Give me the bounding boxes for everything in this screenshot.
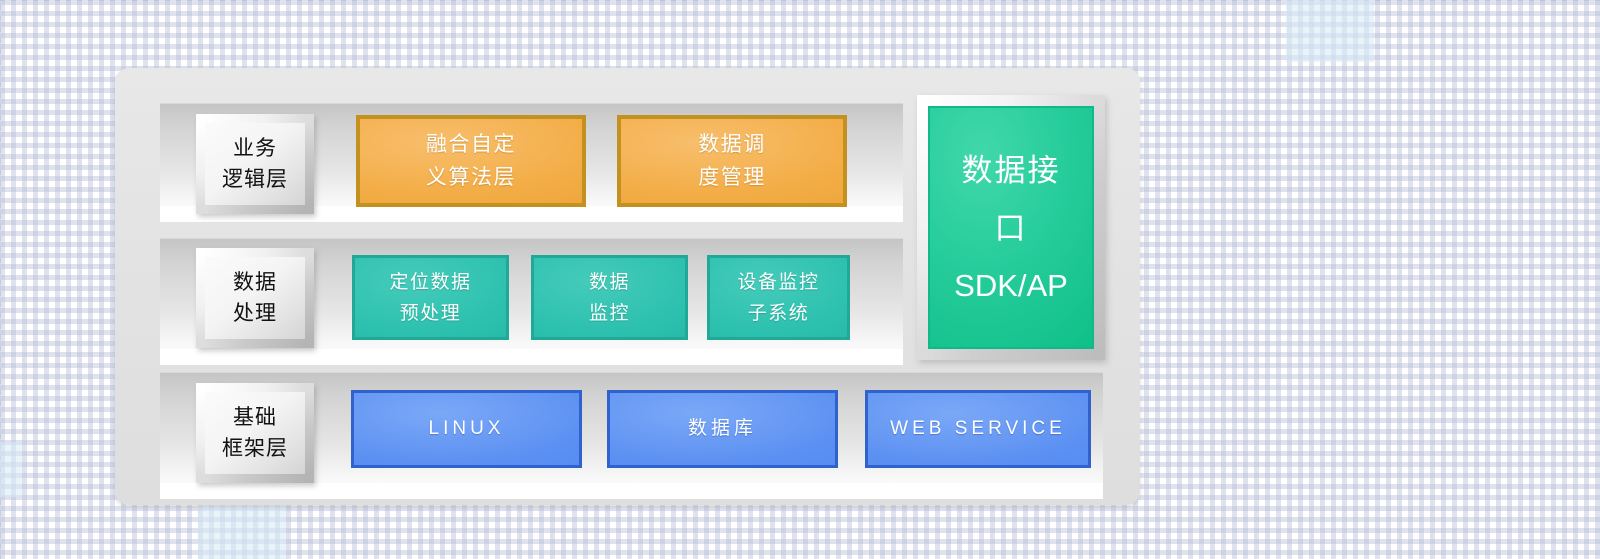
layer-label-business[interactable]: 业务 逻辑层 <box>196 114 314 214</box>
band-inner-shelf <box>160 483 1103 499</box>
module-label-line1: 数据库 <box>688 414 757 444</box>
layer-label-data-processing[interactable]: 数据 处理 <box>196 248 314 348</box>
module-database[interactable]: 数据库 <box>607 390 838 468</box>
module-label-line2: 监控 <box>589 298 630 329</box>
module-label-line2: 度管理 <box>698 161 766 194</box>
layer-label-line2: 逻辑层 <box>222 164 288 195</box>
band-inner-shelf <box>160 349 903 365</box>
diagram-canvas: 业务 逻辑层 数据 处理 基础 框架层 融合自定 义算法层 数据调 度管理 定位… <box>0 0 1600 559</box>
interface-label-line2: 口 <box>995 200 1028 258</box>
module-device-monitoring-subsystem[interactable]: 设备监控 子系统 <box>707 255 850 340</box>
module-label-line2: 子系统 <box>748 298 810 329</box>
interface-label-sdk: SDK/AP <box>954 258 1068 314</box>
module-label-line2: 义算法层 <box>426 161 516 194</box>
module-data-scheduling-management[interactable]: 数据调 度管理 <box>617 115 847 207</box>
layer-label-line1: 数据 <box>233 267 277 298</box>
module-label-line1: LINUX <box>429 414 505 444</box>
layer-label-line2: 框架层 <box>222 433 288 464</box>
layer-label-line1: 业务 <box>233 133 277 164</box>
module-label-line1: WEB SERVICE <box>890 414 1066 444</box>
module-label-line1: 融合自定 <box>426 128 516 161</box>
module-data-monitoring[interactable]: 数据 监控 <box>531 255 688 340</box>
layer-label-base-framework[interactable]: 基础 框架层 <box>196 383 314 483</box>
layer-label-line2: 处理 <box>233 298 277 329</box>
module-linux[interactable]: LINUX <box>351 390 582 468</box>
data-interface-frame: 数据接 口 SDK/AP <box>917 95 1105 360</box>
module-location-data-preprocessing[interactable]: 定位数据 预处理 <box>352 255 509 340</box>
module-label-line1: 数据调 <box>698 128 766 161</box>
module-label-line1: 数据 <box>589 267 630 298</box>
interface-label-line1: 数据接 <box>962 142 1061 200</box>
module-label-line1: 设备监控 <box>737 267 819 298</box>
module-label-line2: 预处理 <box>400 298 462 329</box>
module-label-line1: 定位数据 <box>389 267 471 298</box>
data-interface-panel[interactable]: 数据接 口 SDK/AP <box>928 106 1094 349</box>
layer-label-line1: 基础 <box>233 402 277 433</box>
module-web-service[interactable]: WEB SERVICE <box>865 390 1091 468</box>
module-fusion-custom-algorithm[interactable]: 融合自定 义算法层 <box>356 115 586 207</box>
